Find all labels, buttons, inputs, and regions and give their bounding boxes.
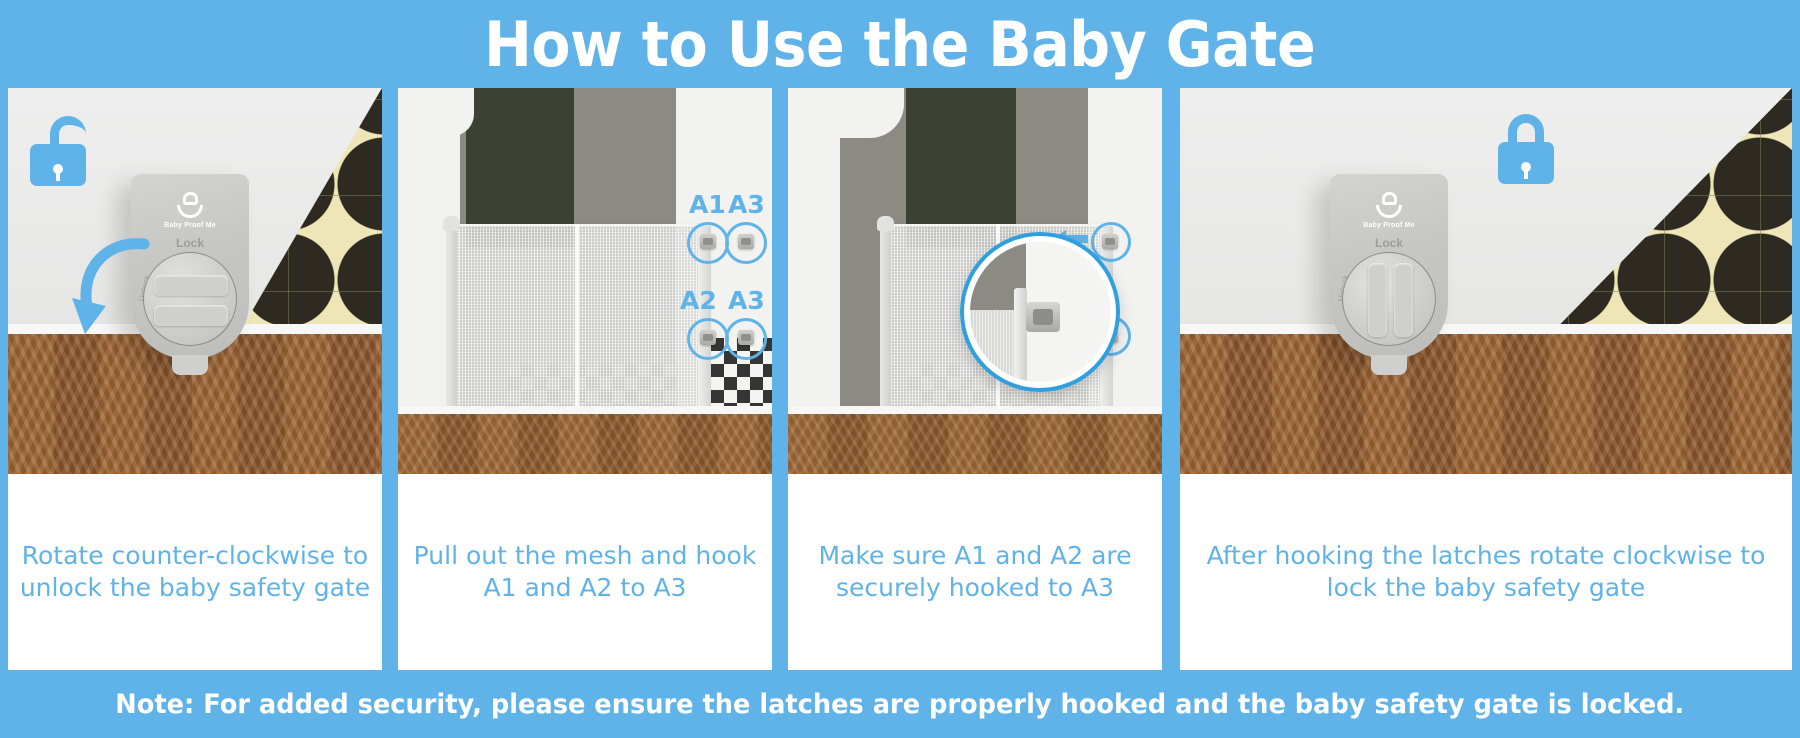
logo-lock-shape: [1382, 192, 1397, 205]
step-4-caption: After hooking the latches rotate clockwi…: [1180, 474, 1792, 670]
panel-grid: Baby Proof Me Lock Unlock Rotate counter…: [0, 88, 1800, 670]
callout-label-a1: A1: [689, 190, 726, 219]
retractable-mesh-gate[interactable]: [456, 224, 708, 410]
step-3-caption: Make sure A1 and A2 are securely hooked …: [788, 474, 1162, 670]
counter-clockwise-arrow-icon: [66, 236, 156, 346]
baby-proof-me-logo-icon: [1376, 192, 1402, 218]
step-panel-1: Baby Proof Me Lock Unlock Rotate counter…: [8, 88, 382, 670]
step-3-photo: [788, 88, 1162, 474]
callout-label-a2: A2: [680, 286, 717, 315]
housing-foot: [1371, 355, 1407, 375]
housing-foot: [172, 355, 208, 375]
knob-grip: [1368, 263, 1387, 337]
wood-floor: [398, 414, 772, 474]
logo-heart-shape: [1376, 205, 1402, 218]
gate-post-cap: [877, 216, 894, 231]
step-panel-3: Make sure A1 and A2 are securely hooked …: [788, 88, 1162, 670]
latch-detail-magnifier: [964, 236, 1116, 388]
step-2-caption: Pull out the mesh and hook A1 and A2 to …: [398, 474, 772, 670]
padlock-body: [30, 144, 86, 186]
step-1-caption: Rotate counter-clockwise to unlock the b…: [8, 474, 382, 670]
padlock-keyhole: [1521, 162, 1531, 172]
wood-floor: [788, 414, 1162, 474]
callout-circle-a1: [687, 222, 729, 264]
gate-post-cap: [443, 216, 460, 231]
step-2-photo: A1 A2 A3 A3: [398, 88, 772, 474]
gate-post: [880, 228, 891, 414]
knob-grip: [154, 275, 228, 296]
knob-lock-label: Lock: [1330, 236, 1448, 250]
callout-circle-a2: [687, 318, 729, 360]
step-1-photo: Baby Proof Me Lock Unlock: [8, 88, 382, 474]
white-left-wall: [788, 88, 840, 428]
title-bar: How to Use the Baby Gate: [0, 0, 1800, 88]
brand-name-label: Baby Proof Me: [1330, 222, 1448, 229]
logo-lock-shape: [183, 192, 198, 205]
unlocked-padlock-icon: [30, 116, 86, 186]
page-title: How to Use the Baby Gate: [484, 8, 1315, 81]
knob-grip: [154, 305, 228, 326]
knob-grip: [1394, 263, 1413, 337]
baby-proof-me-logo-icon: [177, 192, 203, 218]
callout-label-a3-lower: A3: [728, 286, 765, 315]
rotating-knob[interactable]: [143, 252, 237, 346]
padlock-keyhole: [53, 164, 63, 174]
brand-name-label: Baby Proof Me: [131, 222, 249, 229]
infographic-poster: How to Use the Baby Gate: [0, 0, 1800, 738]
skirting-board: [1180, 324, 1792, 334]
note-bar: Note: For added security, please ensure …: [0, 670, 1800, 738]
callout-label-a3-upper: A3: [728, 190, 765, 219]
step-4-photo: Baby Proof Me Lock Unlock: [1180, 88, 1792, 474]
gate-post: [446, 228, 457, 414]
note-text: Note: For added security, please ensure …: [116, 689, 1685, 720]
rotating-knob[interactable]: [1342, 252, 1436, 346]
wood-floor: [1180, 334, 1792, 474]
locked-padlock-icon: [1498, 114, 1554, 184]
logo-heart-shape: [177, 205, 203, 218]
gate-lock-housing: Baby Proof Me Lock Unlock: [1330, 174, 1448, 359]
step-panel-2: A1 A2 A3 A3 Pull out the mesh and hook A…: [398, 88, 772, 670]
callout-circle-a3-upper: [725, 222, 767, 264]
padlock-body: [1498, 142, 1554, 184]
magnifier-content: [970, 242, 1110, 382]
step-panel-4: Baby Proof Me Lock Unlock After hooking …: [1180, 88, 1792, 670]
mesh-seam: [575, 224, 579, 410]
callout-circle-a3-lower: [725, 318, 767, 360]
